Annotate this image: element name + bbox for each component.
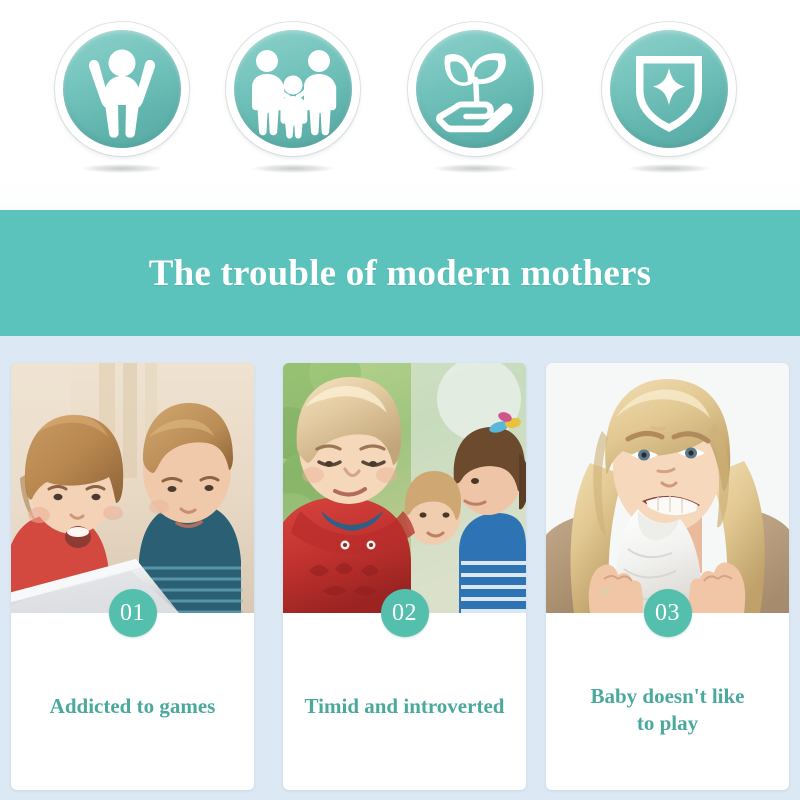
- icon-drop-shadow: [628, 164, 710, 173]
- problem-card[interactable]: 01 Addicted to games: [11, 363, 254, 790]
- promo-page: The trouble of modern mothers: [0, 0, 800, 800]
- two-children-with-tablet-photo: [11, 363, 254, 613]
- card-number-badge: 02: [381, 589, 429, 637]
- card-caption: Timid and introverted: [291, 693, 518, 720]
- card-caption-line-1: Baby doesn't like: [590, 684, 744, 708]
- problem-cards-section: 01 Addicted to games: [0, 336, 800, 800]
- icon-drop-shadow: [252, 164, 334, 173]
- feature-icon-2[interactable]: [226, 22, 366, 190]
- problem-card[interactable]: 03 Baby doesn't like to play: [546, 363, 789, 790]
- icon-drop-shadow: [81, 164, 163, 173]
- person-arms-raised-icon: [63, 30, 181, 148]
- section-banner: The trouble of modern mothers: [0, 210, 800, 336]
- feature-icon-4[interactable]: [602, 22, 742, 190]
- shy-boy-outdoors-photo: [283, 363, 526, 613]
- card-caption: Baby doesn't like to play: [554, 683, 781, 737]
- feature-icon-1[interactable]: [55, 22, 195, 190]
- feature-icon-3[interactable]: [408, 22, 548, 190]
- card-caption-line-2: to play: [637, 711, 698, 735]
- hand-holding-sprout-icon: [416, 30, 534, 148]
- banner-title: The trouble of modern mothers: [149, 255, 652, 292]
- card-caption: Addicted to games: [19, 693, 246, 720]
- card-number-badge: 01: [109, 589, 157, 637]
- problem-card[interactable]: 02 Timid and introverted: [283, 363, 526, 790]
- family-group-icon: [234, 30, 352, 148]
- icon-drop-shadow: [434, 164, 516, 173]
- card-number-badge: 03: [644, 589, 692, 637]
- shield-sparkle-icon: [610, 30, 728, 148]
- feature-icon-strip: [0, 0, 800, 210]
- frustrated-mother-biting-cloth-photo: [546, 363, 789, 613]
